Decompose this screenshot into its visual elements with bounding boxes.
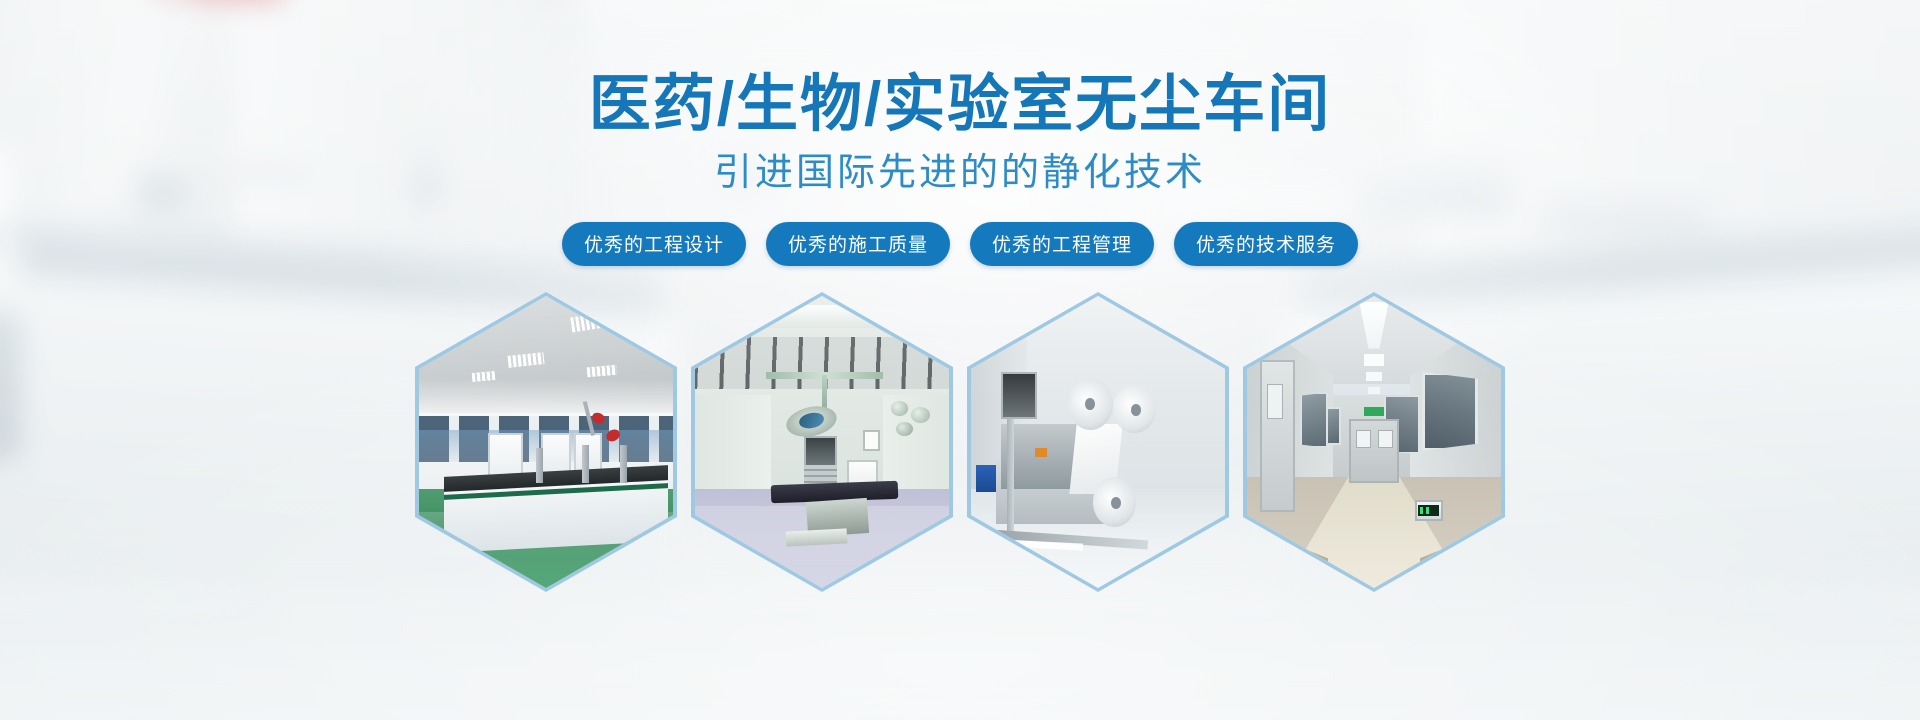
hex4-window-left-2 xyxy=(1326,407,1341,445)
hexagon-cleanroom-corridor[interactable] xyxy=(1243,292,1505,592)
hex2-satellite-light-1 xyxy=(891,401,909,416)
hero-banner: 医药/生物/实验室无尘车间 引进国际先进的的静化技术 优秀的工程设计 优秀的施工… xyxy=(0,0,1920,720)
hexagon-photo-4 xyxy=(1247,296,1501,588)
hex2-table-pedestal xyxy=(786,528,848,546)
hex4-window-right-1 xyxy=(1422,372,1478,451)
hexagon-laboratory-bench-room[interactable] xyxy=(415,292,677,592)
hex1-faucet-3 xyxy=(620,445,628,483)
feature-pill-engineering-design[interactable]: 优秀的工程设计 xyxy=(562,222,746,266)
hex3-roll-hub-3 xyxy=(1111,497,1121,509)
hex3-control-panel xyxy=(1001,372,1037,419)
hex2-light-boom-post xyxy=(822,375,827,410)
hex4-side-door-window xyxy=(1267,384,1282,419)
hex4-end-door-window-2 xyxy=(1378,430,1393,448)
hex2-wall-panel-left xyxy=(695,395,771,488)
hexagon-photo-1 xyxy=(419,296,673,588)
hex2-satellite-light-2 xyxy=(911,407,930,423)
hex1-faucet-1 xyxy=(536,448,544,483)
hex1-faucet-2 xyxy=(582,445,590,483)
hex3-roll-hub-2 xyxy=(1131,404,1141,416)
hex3-machine-frame xyxy=(1007,419,1015,536)
feature-pill-row: 优秀的工程设计 优秀的施工质量 优秀的工程管理 优秀的技术服务 xyxy=(0,222,1920,266)
hex4-window-left-1 xyxy=(1300,392,1328,447)
hex2-wall-clock xyxy=(863,430,881,450)
banner-subtitle: 引进国际先进的的静化技术 xyxy=(0,151,1920,197)
hex3-orange-part xyxy=(1035,448,1048,457)
feature-pill-construction-quality[interactable]: 优秀的施工质量 xyxy=(766,222,950,266)
hex4-control-readout xyxy=(1420,507,1433,514)
hexagon-production-packaging-line[interactable] xyxy=(967,292,1229,592)
hex4-end-door-window-1 xyxy=(1356,430,1371,448)
hex4-ceiling-light-1 xyxy=(1364,354,1384,366)
feature-pill-project-management[interactable]: 优秀的工程管理 xyxy=(970,222,1154,266)
hexagon-gallery xyxy=(0,292,1920,592)
hexagon-photo-2 xyxy=(695,296,949,588)
headline-block: 医药/生物/实验室无尘车间 引进国际先进的的静化技术 xyxy=(0,72,1920,197)
hex3-blue-crate xyxy=(976,465,996,491)
hexagon-photo-3 xyxy=(971,296,1225,588)
hexagon-operating-room[interactable] xyxy=(691,292,953,592)
banner-title: 医药/生物/实验室无尘车间 xyxy=(0,72,1920,139)
hex4-ceiling-light-3 xyxy=(1368,387,1381,394)
feature-pill-technical-service[interactable]: 优秀的技术服务 xyxy=(1174,222,1358,266)
hex4-ceiling-light-2 xyxy=(1366,372,1381,381)
hex2-clerestory-window xyxy=(710,305,934,328)
hex4-exit-sign xyxy=(1364,407,1384,416)
hex4-end-door xyxy=(1349,419,1400,483)
